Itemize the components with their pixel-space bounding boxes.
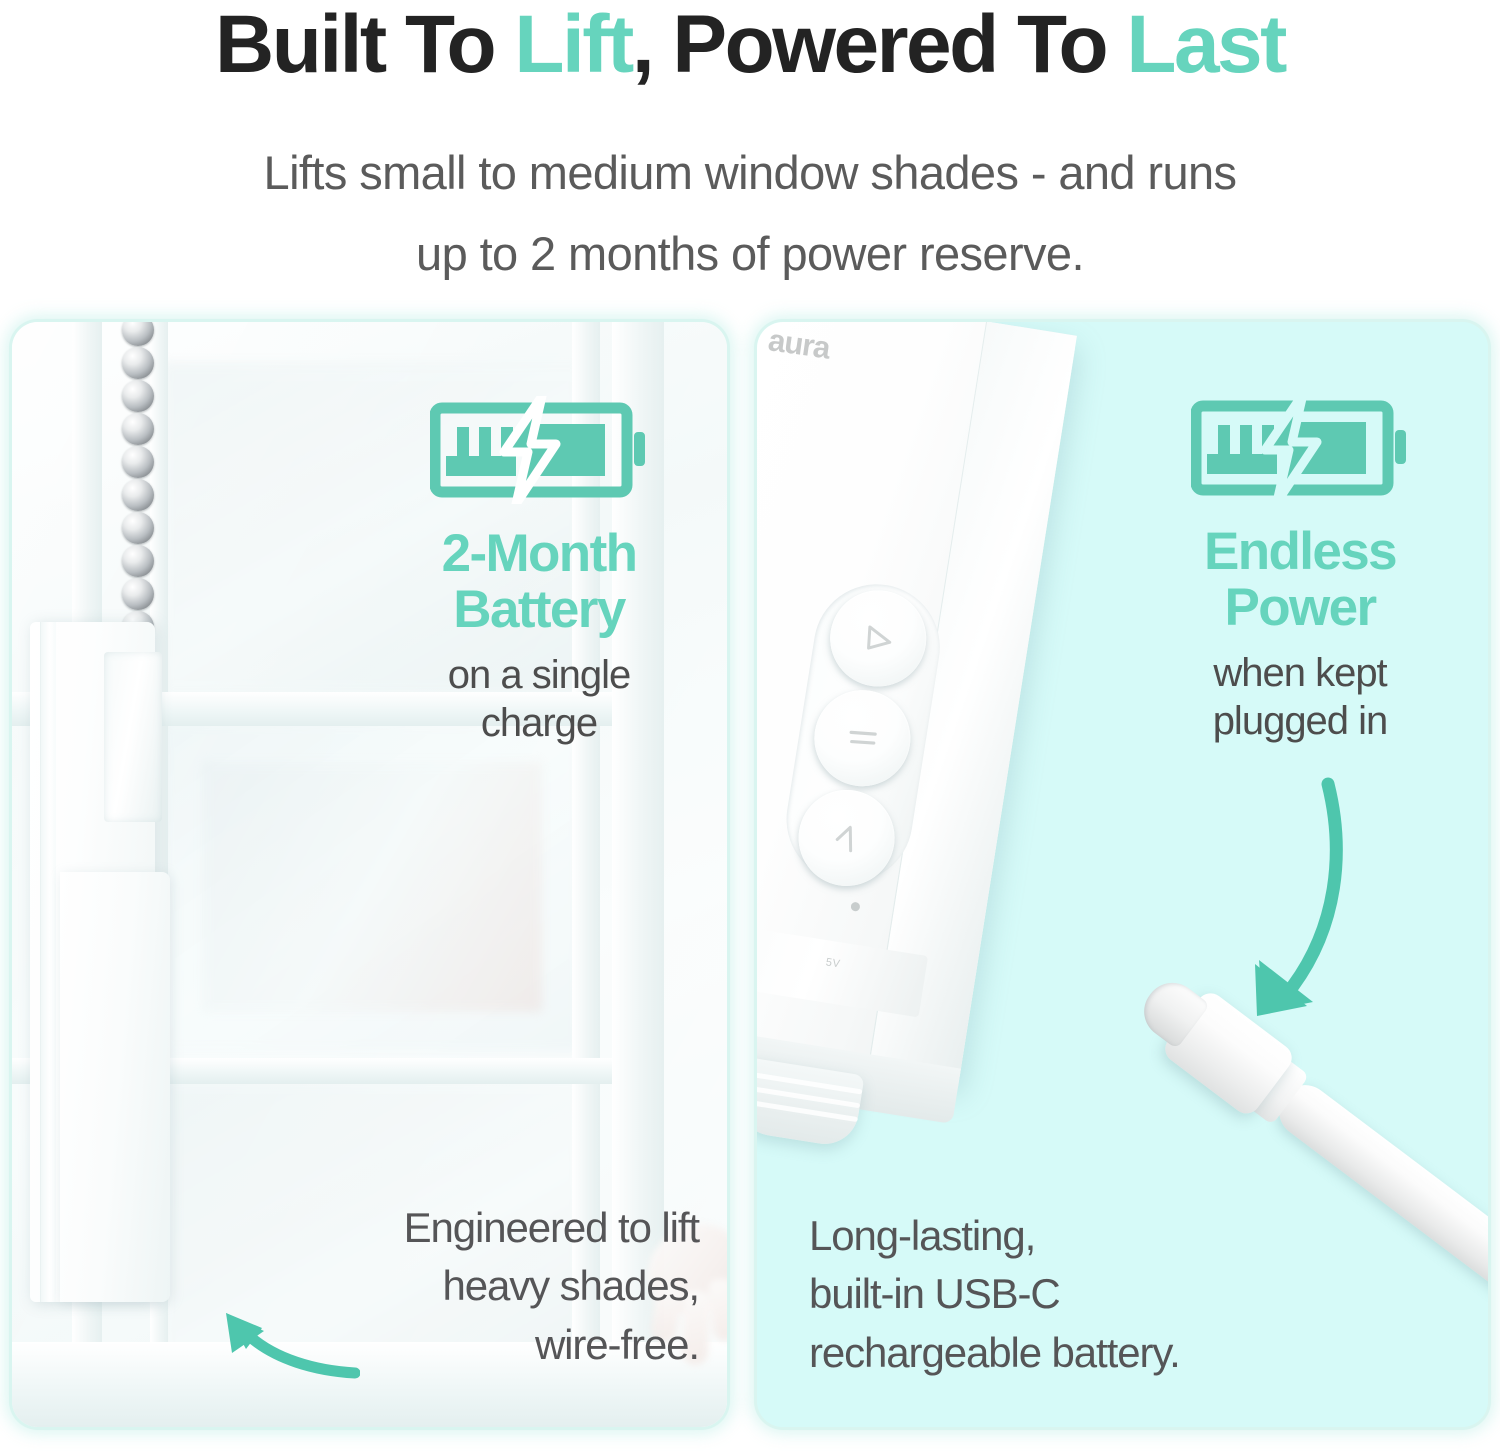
aura-device: aura bbox=[757, 322, 1077, 1086]
subtitle-line-2: up to 2 months of power reserve. bbox=[150, 214, 1350, 295]
port-label-voltage: 5V bbox=[825, 956, 841, 970]
headline-part-4: Last bbox=[1126, 0, 1285, 90]
headline-part-3: , Powered To bbox=[632, 0, 1127, 90]
cable-cord bbox=[1269, 1075, 1488, 1369]
feature-sub-line-1: on a single bbox=[374, 652, 704, 699]
feature-title-endless-power: Endless Power bbox=[1135, 524, 1465, 636]
feature-sub-line-2: plugged in bbox=[1135, 698, 1465, 745]
infographic-page: Built To Lift, Powered To Last Lifts sma… bbox=[0, 0, 1500, 1451]
up-arrow-icon bbox=[821, 813, 871, 863]
finger-3 bbox=[708, 1278, 727, 1342]
battery-charging-icon bbox=[430, 396, 648, 504]
outdoor-blur bbox=[202, 762, 542, 1012]
feature-sub-line-1: when kept bbox=[1135, 650, 1465, 697]
feature-title-line-2: Power bbox=[1135, 580, 1465, 636]
caption-long-lasting-usb-c: Long-lasting, built-in USB-C rechargeabl… bbox=[809, 1207, 1289, 1383]
headline-part-1: Built To bbox=[215, 0, 514, 90]
feature-title-line-1: Endless bbox=[1135, 524, 1465, 580]
page-title: Built To Lift, Powered To Last bbox=[0, 2, 1500, 88]
caption-line-2: built-in USB-C bbox=[809, 1265, 1289, 1324]
curved-arrow-down-icon bbox=[1227, 774, 1353, 1024]
down-arrow-icon bbox=[853, 613, 903, 663]
caption-line-1: Engineered to lift bbox=[229, 1199, 699, 1258]
status-led bbox=[850, 902, 860, 912]
feature-subtitle-battery: on a single charge bbox=[374, 652, 704, 746]
motor-lower-body bbox=[60, 872, 170, 1302]
feature-panel-battery: 2-Month Battery on a single charge Engin… bbox=[12, 322, 727, 1427]
motor-chain-slot bbox=[104, 652, 162, 822]
headline-part-2: Lift bbox=[514, 0, 631, 90]
feature-sub-line-2: charge bbox=[374, 700, 704, 747]
header: Built To Lift, Powered To Last Lifts sma… bbox=[0, 0, 1500, 300]
subtitle: Lifts small to medium window shades - an… bbox=[150, 133, 1350, 295]
feature-title-line-2: Battery bbox=[374, 582, 704, 638]
feature-block-battery: 2-Month Battery on a single charge bbox=[374, 396, 704, 747]
caption-line-1: Long-lasting, bbox=[809, 1207, 1289, 1266]
subtitle-line-1: Lifts small to medium window shades - an… bbox=[150, 133, 1350, 214]
feature-subtitle-endless-power: when kept plugged in bbox=[1135, 650, 1465, 744]
feature-title-battery: 2-Month Battery bbox=[374, 526, 704, 638]
battery-charging-icon bbox=[1191, 394, 1409, 502]
curved-arrow-left-icon bbox=[212, 1293, 360, 1385]
caption-line-3: rechargeable battery. bbox=[809, 1324, 1289, 1383]
motor-spine bbox=[40, 622, 56, 1302]
feature-panel-endless-power: aura bbox=[757, 322, 1488, 1427]
feature-block-endless-power: Endless Power when kept plugged in bbox=[1135, 394, 1465, 745]
equals-lines-icon bbox=[837, 713, 887, 763]
brand-logo: aura bbox=[766, 322, 832, 366]
feature-title-line-1: 2-Month bbox=[374, 526, 704, 582]
